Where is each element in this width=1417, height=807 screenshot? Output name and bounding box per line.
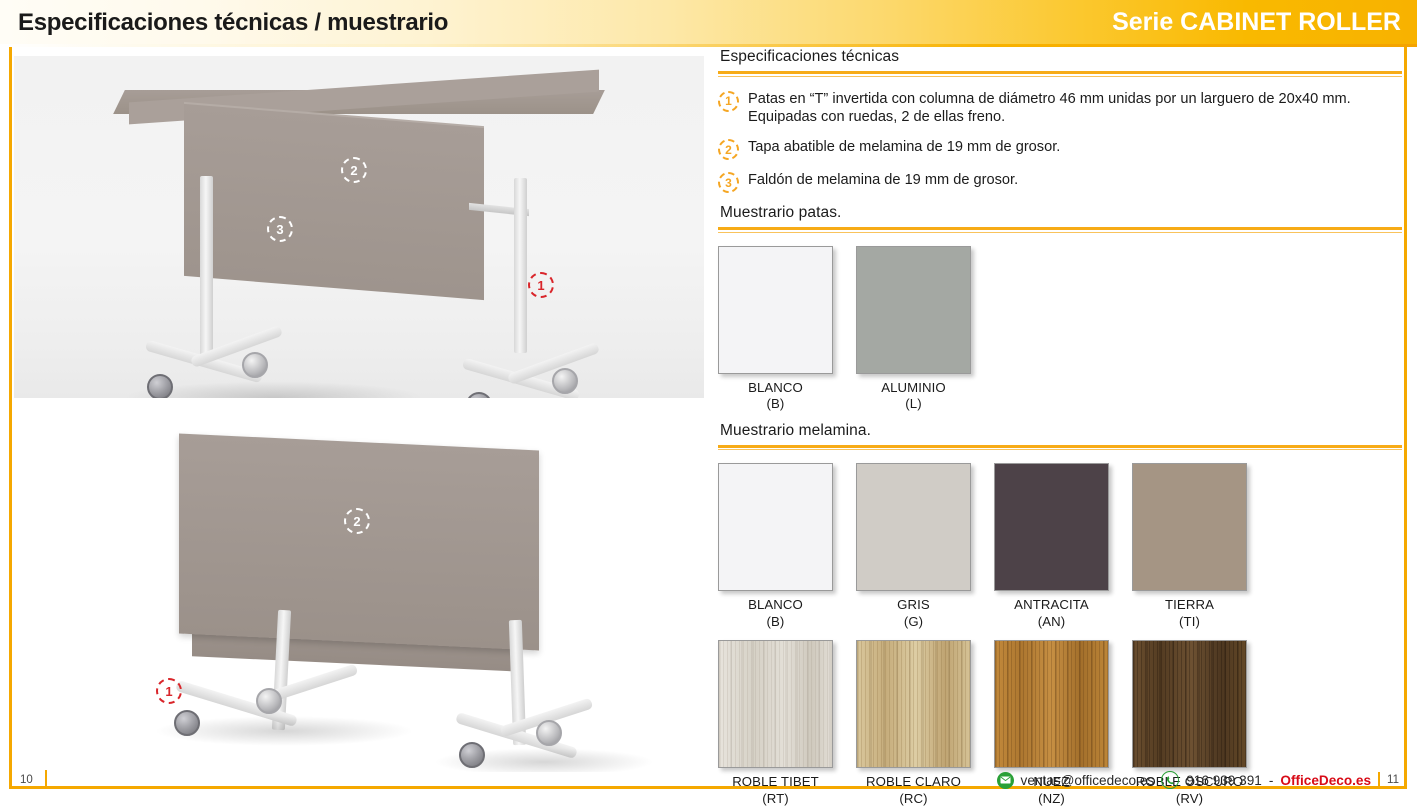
spec-bullet-3-icon: 3 bbox=[718, 172, 739, 193]
swatch-tierra[interactable]: TIERRA (TI) bbox=[1132, 463, 1270, 630]
spec-bullet-1-icon: 1 bbox=[718, 91, 739, 112]
spec-bullet-2-icon: 2 bbox=[718, 139, 739, 160]
swatch-code: (RC) bbox=[856, 791, 971, 807]
left-orange-rule bbox=[9, 38, 12, 788]
folded-floor-shadow-left bbox=[154, 716, 414, 746]
right-orange-rule bbox=[1404, 38, 1407, 788]
spec-text-3: Faldón de melamina de 19 mm de grosor. bbox=[748, 171, 1018, 190]
swatch-code: (B) bbox=[718, 614, 833, 631]
melamina-section-title: Muestrario melamina. bbox=[718, 422, 1402, 445]
swatch-name: ALUMINIO bbox=[881, 380, 946, 395]
page-number-left-separator bbox=[45, 770, 47, 787]
specs-divider bbox=[718, 71, 1402, 77]
footer-contact: ventas@officedeco.es 916 939 391 - Offic… bbox=[997, 771, 1399, 789]
swatch-label-antracita: ANTRACITA (AN) bbox=[994, 597, 1109, 630]
email-address[interactable]: ventas@officedeco.es bbox=[1021, 773, 1155, 788]
swatch-label-tierra: TIERRA (TI) bbox=[1132, 597, 1247, 630]
page-title: Especificaciones técnicas / muestrario bbox=[18, 9, 448, 37]
specs-list: 1 Patas en “T” invertida con columna de … bbox=[718, 90, 1402, 194]
swatch-code: (RT) bbox=[718, 791, 833, 807]
folded-tabletop bbox=[179, 434, 539, 651]
footer-separator-dash: - bbox=[1269, 773, 1274, 788]
caster-left-back bbox=[242, 352, 268, 378]
swatch-color-aluminio bbox=[856, 246, 971, 374]
page-header: Especificaciones técnicas / muestrario S… bbox=[0, 0, 1417, 44]
swatch-name: BLANCO bbox=[748, 380, 803, 395]
callout-1-open: 1 bbox=[528, 272, 554, 298]
swatch-color-tierra bbox=[1132, 463, 1247, 591]
swatch-code: (NZ) bbox=[994, 791, 1109, 807]
swatch-color-roble-tibet bbox=[718, 640, 833, 768]
swatch-roble-claro[interactable]: ROBLE CLARO (RC) bbox=[856, 640, 994, 807]
swatch-color-roble-claro bbox=[856, 640, 971, 768]
catalog-page: Especificaciones técnicas / muestrario S… bbox=[0, 0, 1417, 800]
swatch-blanco-melamina[interactable]: BLANCO (B) bbox=[718, 463, 856, 630]
product-render-open-table: 2 3 1 bbox=[14, 56, 704, 398]
swatch-code: (AN) bbox=[994, 614, 1109, 631]
swatch-gris[interactable]: GRIS (G) bbox=[856, 463, 994, 630]
caster-right-back bbox=[552, 368, 578, 394]
spec-text-2: Tapa abatible de melamina de 19 mm de gr… bbox=[748, 138, 1060, 157]
page-number-left: 10 bbox=[20, 774, 33, 786]
swatch-label-blanco-patas: BLANCO (B) bbox=[718, 380, 833, 413]
phone-number[interactable]: 916 939 391 bbox=[1186, 773, 1262, 788]
swatch-color-blanco-melamina bbox=[718, 463, 833, 591]
swatch-name: ANTRACITA bbox=[1014, 597, 1089, 612]
product-images-column: 2 3 1 2 1 bbox=[14, 56, 704, 772]
callout-2-folded: 2 bbox=[344, 508, 370, 534]
swatch-label-aluminio: ALUMINIO (L) bbox=[856, 380, 971, 413]
swatch-code: (B) bbox=[718, 396, 833, 413]
page-number-right-separator bbox=[1378, 772, 1380, 788]
email-icon bbox=[997, 772, 1014, 789]
swatch-label-roble-tibet: ROBLE TIBET (RT) bbox=[718, 774, 833, 807]
swatch-label-gris: GRIS (G) bbox=[856, 597, 971, 630]
folded-caster-right-back bbox=[536, 720, 562, 746]
caster-right-front bbox=[466, 392, 492, 398]
folded-floor-shadow-right bbox=[434, 748, 654, 772]
swatch-color-gris bbox=[856, 463, 971, 591]
patas-section-title: Muestrario patas. bbox=[718, 204, 1402, 227]
swatch-name: TIERRA bbox=[1165, 597, 1214, 612]
spec-item-3: 3 Faldón de melamina de 19 mm de grosor. bbox=[718, 171, 1402, 193]
series-title: Serie CABINET ROLLER bbox=[1112, 8, 1401, 37]
swatch-code: (TI) bbox=[1132, 614, 1247, 631]
product-render-folded-table: 2 1 bbox=[14, 420, 704, 772]
spec-item-2: 2 Tapa abatible de melamina de 19 mm de … bbox=[718, 138, 1402, 160]
leg-column-left bbox=[200, 176, 213, 361]
spec-text-1: Patas en “T” invertida con columna de di… bbox=[748, 90, 1402, 128]
swatch-label-blanco-melamina: BLANCO (B) bbox=[718, 597, 833, 630]
page-number-right: 11 bbox=[1387, 774, 1399, 786]
leg-column-right bbox=[514, 178, 527, 353]
callout-3-open: 3 bbox=[267, 216, 293, 242]
swatch-name: BLANCO bbox=[748, 597, 803, 612]
brand-name[interactable]: OfficeDeco.es bbox=[1280, 773, 1371, 788]
swatch-color-roble-oscuro bbox=[1132, 640, 1247, 768]
swatch-code: (L) bbox=[856, 396, 971, 413]
modesty-panel bbox=[184, 104, 484, 300]
specs-column: Especificaciones técnicas 1 Patas en “T”… bbox=[718, 48, 1402, 807]
melamina-divider bbox=[718, 445, 1402, 451]
phone-icon bbox=[1161, 771, 1179, 789]
swatch-color-nuez bbox=[994, 640, 1109, 768]
callout-1-folded: 1 bbox=[156, 678, 182, 704]
swatch-label-roble-claro: ROBLE CLARO (RC) bbox=[856, 774, 971, 807]
specs-section-title: Especificaciones técnicas bbox=[718, 48, 1402, 71]
swatch-antracita[interactable]: ANTRACITA (AN) bbox=[994, 463, 1132, 630]
swatch-blanco-patas[interactable]: BLANCO (B) bbox=[718, 246, 856, 413]
header-underline bbox=[0, 44, 1417, 47]
spec-item-1: 1 Patas en “T” invertida con columna de … bbox=[718, 90, 1402, 128]
callout-2-open: 2 bbox=[341, 157, 367, 183]
swatch-code: (RV) bbox=[1132, 791, 1247, 807]
swatch-roble-tibet[interactable]: ROBLE TIBET (RT) bbox=[718, 640, 856, 807]
swatch-color-blanco-patas bbox=[718, 246, 833, 374]
melamina-swatch-row-1: BLANCO (B) GRIS (G) ANTRACITA (AN) bbox=[718, 463, 1402, 630]
swatch-name: GRIS bbox=[897, 597, 930, 612]
folded-caster-left-back bbox=[256, 688, 282, 714]
patas-divider bbox=[718, 227, 1402, 233]
swatch-aluminio-patas[interactable]: ALUMINIO (L) bbox=[856, 246, 994, 413]
swatch-color-antracita bbox=[994, 463, 1109, 591]
swatch-code: (G) bbox=[856, 614, 971, 631]
patas-swatch-row: BLANCO (B) ALUMINIO (L) bbox=[718, 246, 1402, 413]
